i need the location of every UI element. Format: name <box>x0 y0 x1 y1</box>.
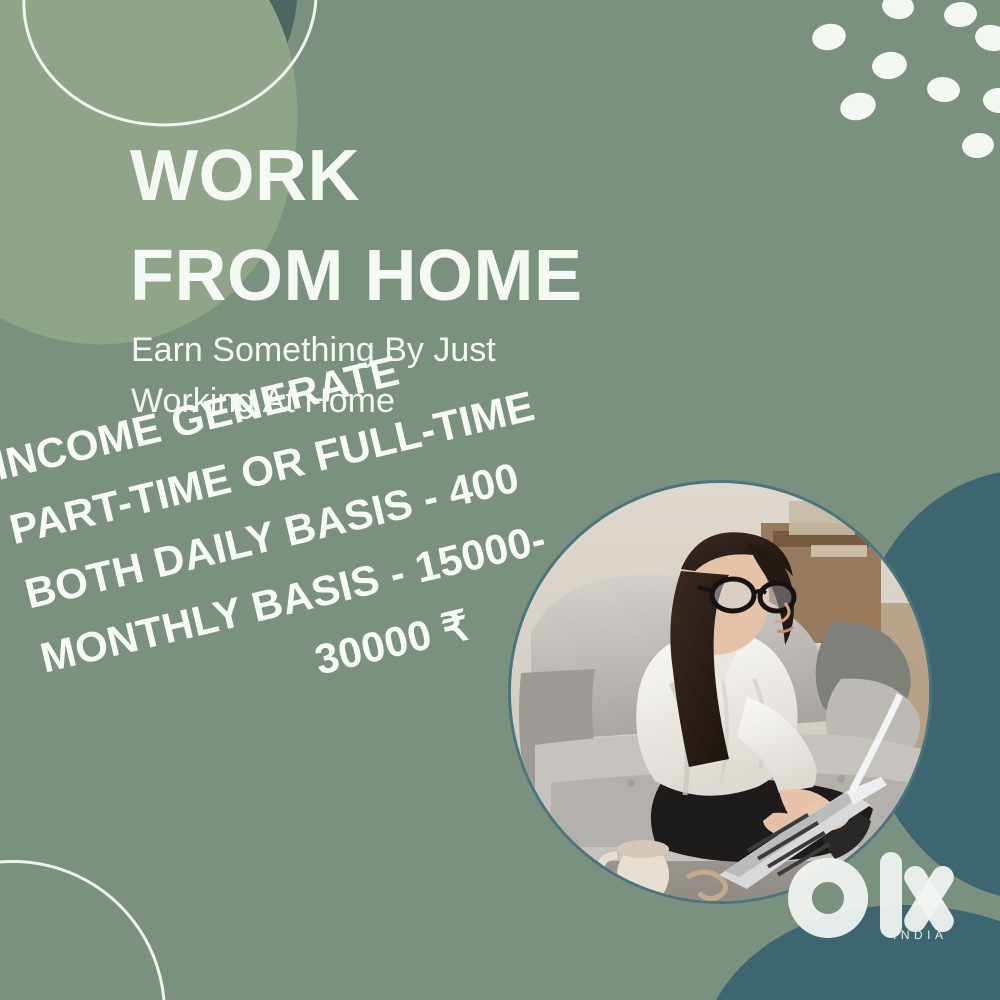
decor-dot <box>870 49 909 81</box>
decor-dot <box>961 131 996 160</box>
page-title: WORK FROM HOME <box>130 126 770 326</box>
decor-dot <box>837 89 878 124</box>
headline-line-1: WORK <box>130 126 770 226</box>
poster-canvas: WORK FROM HOME Earn Something By Just Wo… <box>0 0 1000 1000</box>
olx-logo <box>782 852 982 962</box>
headline-line-2: FROM HOME <box>130 226 770 326</box>
decor-dot <box>926 75 961 103</box>
olx-region-label: INDIA <box>893 928 948 942</box>
decor-dot <box>982 87 1000 115</box>
decor-dot <box>880 0 915 21</box>
decor-dot <box>810 21 849 54</box>
decor-ring-bottom-left <box>0 860 166 1000</box>
decor-dot <box>943 0 978 28</box>
decor-dot <box>973 22 1000 54</box>
olx-logo-icon <box>782 852 982 962</box>
